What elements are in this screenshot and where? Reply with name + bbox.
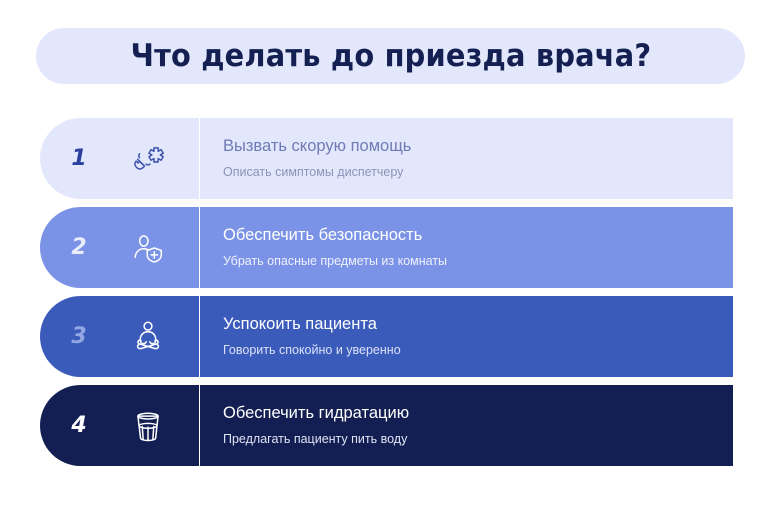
step-divider: [199, 118, 200, 199]
step-content: Успокоить пациента Говорить спокойно и у…: [200, 296, 733, 377]
step-row[interactable]: 3 Успокоить пациента Говорить спокойно и…: [40, 296, 733, 377]
phone-medical-cross-icon: [118, 140, 178, 178]
step-content: Вызвать скорую помощь Описать симптомы д…: [200, 118, 733, 199]
step-subtitle: Говорить спокойно и уверенно: [223, 343, 733, 358]
step-marker-zone: 1: [40, 118, 200, 199]
step-subtitle: Предлагать пациенту пить воду: [223, 432, 733, 447]
step-content: Обеспечить гидратацию Предлагать пациент…: [200, 385, 733, 466]
step-content: Обеспечить безопасность Убрать опасные п…: [200, 207, 733, 288]
step-title: Обеспечить безопасность: [223, 226, 733, 246]
step-title: Обеспечить гидратацию: [223, 404, 733, 424]
step-marker-zone: 2: [40, 207, 200, 288]
step-row[interactable]: 4 Обеспечить гидратацию Предлагать паци: [40, 385, 733, 466]
step-subtitle: Убрать опасные предметы из комнаты: [223, 254, 733, 269]
step-title: Вызвать скорую помощь: [223, 137, 733, 157]
step-number: 3: [40, 326, 118, 348]
step-divider: [199, 385, 200, 466]
step-number: 4: [40, 415, 118, 437]
step-number: 2: [40, 237, 118, 259]
header-banner: Что делать до приезда врача?: [36, 28, 745, 84]
step-number: 1: [40, 148, 118, 170]
meditation-lotus-icon: [118, 318, 178, 356]
water-glass-icon: [118, 407, 178, 445]
person-shield-plus-icon: [118, 229, 178, 267]
page-title: Что делать до приезда врача?: [130, 38, 651, 74]
step-divider: [199, 207, 200, 288]
step-marker-zone: 4: [40, 385, 200, 466]
steps-list: 1 Вызвать скорую помощь Описать симптомы…: [40, 118, 733, 466]
step-row[interactable]: 2 Обеспечить безопасность Убрать опасные…: [40, 207, 733, 288]
step-row[interactable]: 1 Вызвать скорую помощь Описать симптомы…: [40, 118, 733, 199]
step-title: Успокоить пациента: [223, 315, 733, 335]
step-divider: [199, 296, 200, 377]
step-subtitle: Описать симптомы диспетчеру: [223, 165, 733, 180]
step-marker-zone: 3: [40, 296, 200, 377]
